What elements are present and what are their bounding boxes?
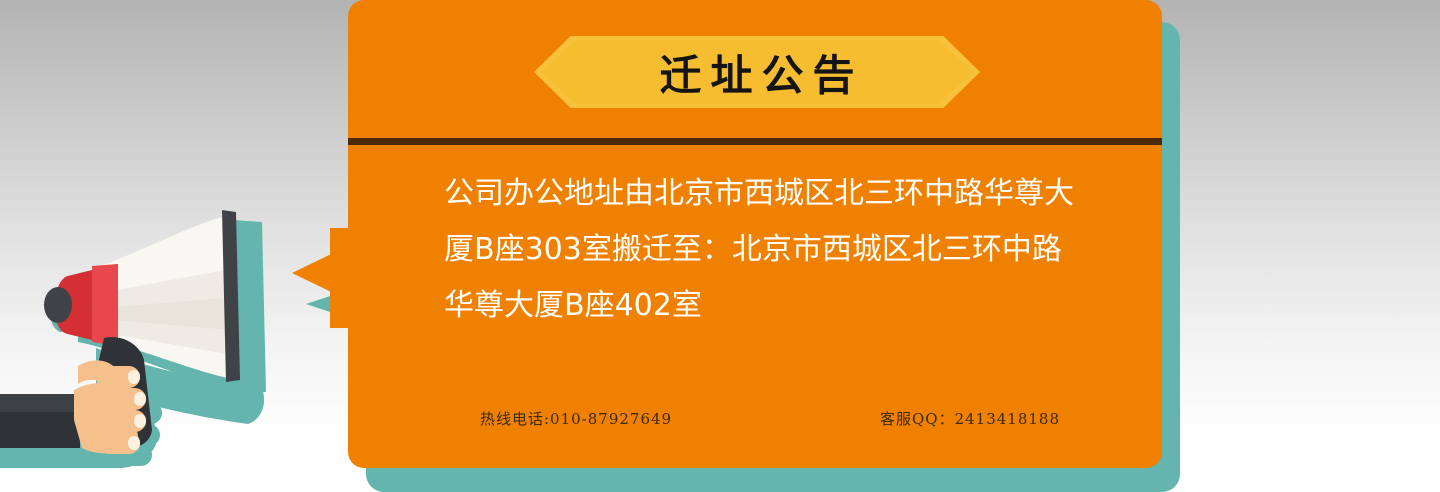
title-divider [348,138,1162,145]
hand [74,360,146,454]
announcement-body-text: 公司办公地址由北京市西城区北三环中路华尊大厦B座303室搬迁至：北京市西城区北三… [444,166,1088,334]
contact-footer: 热线电话:010-87927649 客服QQ：2413418188 [480,408,1060,429]
hotline-phone: 热线电话:010-87927649 [480,408,672,429]
relocation-announcement-banner: 迁址公告 公司办公地址由北京市西城区北三环中路华尊大厦B座303室搬迁至：北京市… [0,0,1440,492]
megaphone-hand-illustration [0,180,340,492]
page-title: 迁址公告 [534,36,980,108]
fingernail-1 [128,370,140,384]
customer-service-qq: 客服QQ：2413418188 [880,408,1060,429]
fingernail-4 [128,436,140,450]
fingernail-3 [134,414,146,428]
fingernail-2 [134,392,146,406]
sleeve-highlight [0,394,80,412]
megaphone-knob [44,287,72,323]
